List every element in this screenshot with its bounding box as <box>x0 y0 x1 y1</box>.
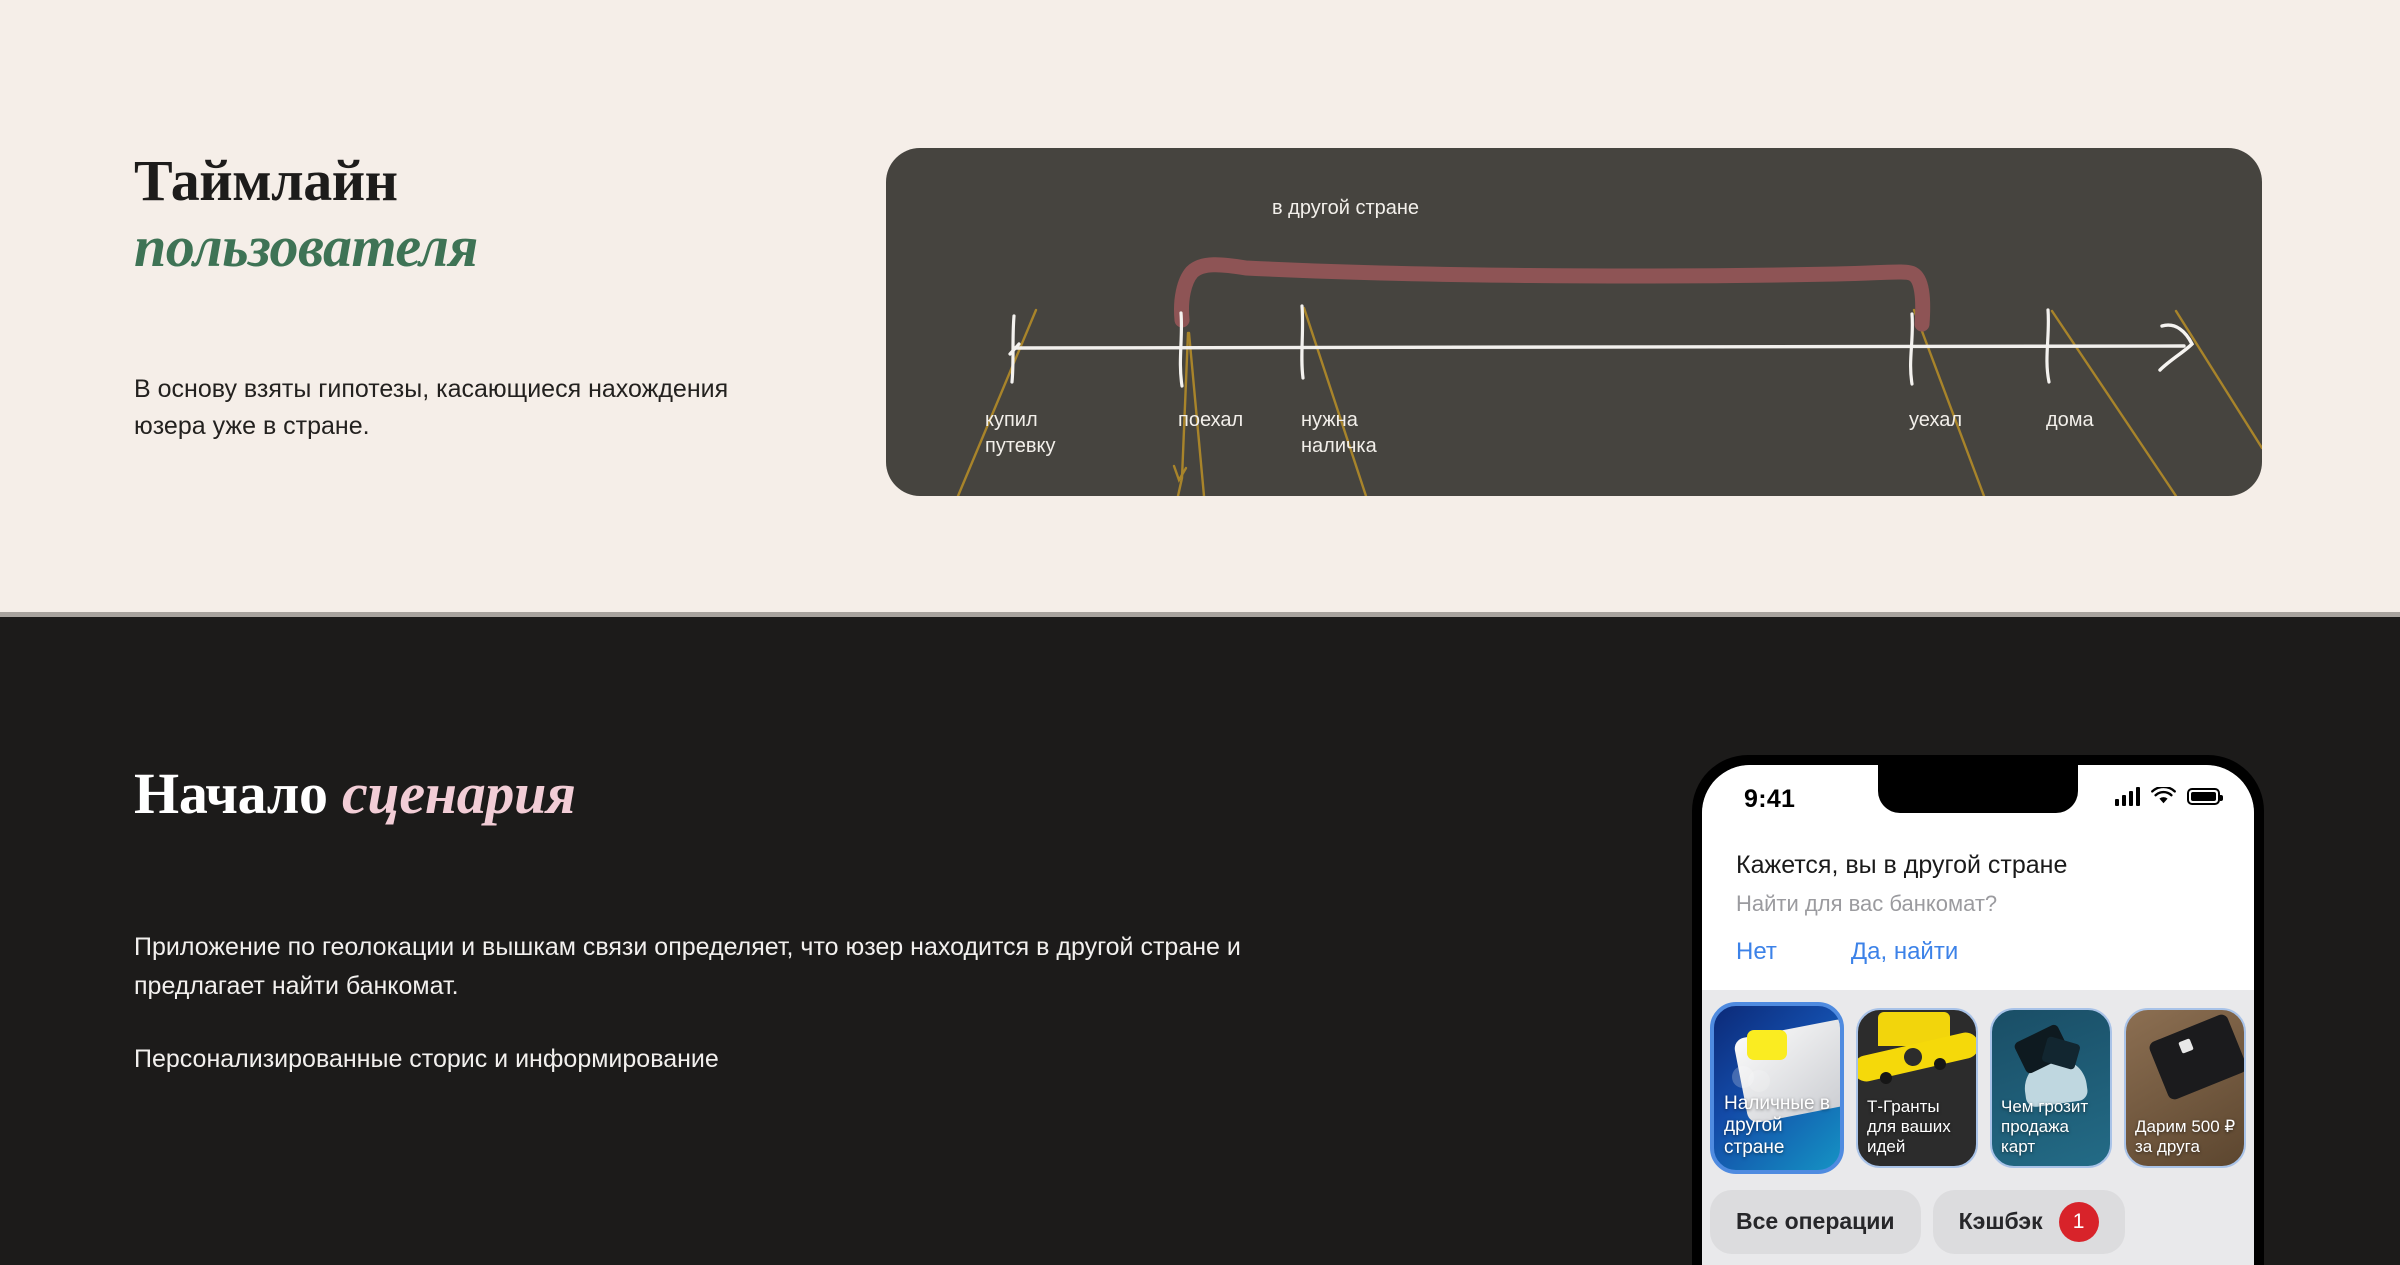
cellular-bars-icon <box>2115 787 2141 806</box>
story-card-label: Т-Гранты для ваших идей <box>1867 1097 1970 1157</box>
timeline-bracket-label: в другой стране <box>1272 197 1419 220</box>
timeline-event-label-doma: дома <box>2046 408 2094 434</box>
scenario-title-accent: сценария <box>342 761 576 826</box>
timeline-drawing <box>886 148 2262 496</box>
scenario-title-plain: Начало <box>134 761 342 826</box>
story-card-grants[interactable]: Т-Гранты для ваших идей <box>1856 1008 1978 1168</box>
all-operations-button[interactable]: Все операции <box>1710 1190 1921 1254</box>
timeline-event-label-nalichka: нужна наличка <box>1301 408 1377 459</box>
notification-decline-button[interactable]: Нет <box>1736 938 1777 966</box>
scenario-paragraph-2: Персонализированные сторис и информирова… <box>134 1040 1334 1079</box>
phone-notch <box>1878 765 2078 813</box>
stories-carousel[interactable]: Наличные в другой стране Т-Гранты для ва… <box>1702 990 2254 1174</box>
slide-root: Таймлайн пользователя В основу взяты гип… <box>0 0 2400 1265</box>
black-card-icon <box>2147 1012 2246 1101</box>
status-icons <box>2115 787 2221 806</box>
timeline-axis <box>1014 346 2184 348</box>
cashback-button[interactable]: Кэшбэк 1 <box>1933 1190 2125 1254</box>
geolocation-notification: Кажется, вы в другой стране Найти для ва… <box>1702 835 2254 990</box>
battery-full-icon <box>2187 788 2220 805</box>
cashback-badge: 1 <box>2059 1202 2099 1242</box>
cashback-label: Кэшбэк <box>1959 1208 2043 1235</box>
phone-status-bar: 9:41 <box>1702 765 2254 835</box>
story-card-label: Дарим 500 ₽ за друга <box>2135 1117 2238 1157</box>
story-card-label: Чем грозит продажа карт <box>2001 1097 2104 1157</box>
notification-subtitle: Найти для вас банкомат? <box>1736 891 2220 917</box>
abroad-bracket <box>1181 265 1922 324</box>
story-card-referral[interactable]: Дарим 500 ₽ за друга <box>2124 1008 2246 1168</box>
page-title-line1: Таймлайн <box>134 148 398 213</box>
page-title: Таймлайн пользователя <box>134 148 774 279</box>
timeline-description: В основу взяты гипотезы, касающиеся нахо… <box>134 371 734 445</box>
story-card-cash-abroad[interactable]: Наличные в другой стране <box>1710 1002 1844 1174</box>
notification-title: Кажется, вы в другой стране <box>1736 849 2220 882</box>
phone-quick-actions: Все операции Кэшбэк 1 <box>1702 1174 2254 1254</box>
phone-mockup: 9:41 Кажется, вы в другой стране Найти д… <box>1692 755 2264 1265</box>
page-title-line2-accent: пользователя <box>134 214 774 280</box>
connector-lines <box>958 308 2262 496</box>
timeline-section: Таймлайн пользователя В основу взяты гип… <box>0 0 2400 617</box>
all-operations-label: Все операции <box>1736 1208 1895 1235</box>
scenario-title: Начало сценария <box>134 760 576 827</box>
skateboard-wheel-icon <box>1880 1072 1892 1084</box>
timeline-event-label-uehal: уехал <box>1909 408 1962 434</box>
timeline-card: в другой стране купил путевку поехал нуж… <box>886 148 2262 496</box>
skateboard-wheel-icon <box>1934 1058 1946 1070</box>
timeline-event-label-kupil: купил путевку <box>985 408 1056 459</box>
notification-accept-button[interactable]: Да, найти <box>1851 938 1958 966</box>
phone-screen: 9:41 Кажется, вы в другой стране Найти д… <box>1702 765 2254 1265</box>
story-card-label: Наличные в другой стране <box>1724 1093 1834 1160</box>
wifi-icon <box>2151 787 2176 806</box>
status-time: 9:41 <box>1744 785 1795 814</box>
decorative-dot <box>1748 1070 1770 1092</box>
story-card-card-selling[interactable]: Чем грозит продажа карт <box>1990 1008 2112 1168</box>
card-chip-icon <box>1747 1030 1787 1060</box>
timeline-event-label-poehal: поехал <box>1178 408 1243 434</box>
scenario-paragraph-1: Приложение по геолокации и вышкам связи … <box>134 928 1334 1006</box>
notification-actions: Нет Да, найти <box>1736 938 2220 966</box>
